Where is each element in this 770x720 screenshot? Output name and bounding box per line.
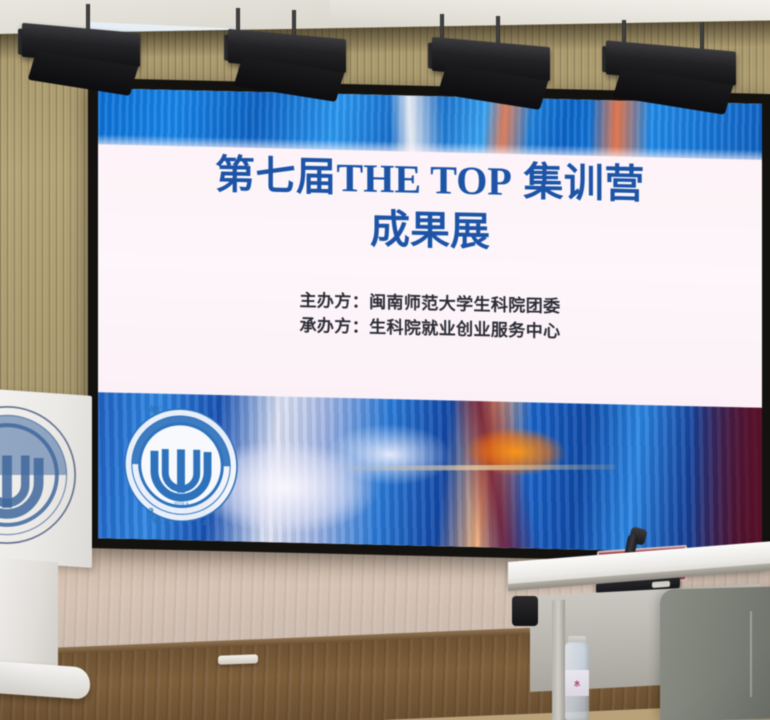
stage-light-4 [606,40,736,111]
podium-logo-icon [0,402,80,548]
light-rod [700,22,704,52]
presenter-table-leg [552,600,565,720]
floor-object [218,654,258,664]
water-bottle-label: 水 [565,670,589,696]
water-bottle-label-text: 水 [565,679,589,688]
slide-title-cn-prefix: 第七届 [215,153,337,200]
led-screen[interactable]: 闽南师范大学 生科院就业创业服务中心 2018.9 第七届THE TOP 集训营… [98,88,762,554]
speaker-podium [0,392,98,720]
logo-year: 2018.9 [173,501,188,507]
university-logo-icon: 闽南师范大学 生科院就业创业服务中心 2018.9 [122,405,240,526]
stage-light-1 [22,23,140,93]
stage-light-3 [432,37,550,107]
under-table-speaker [512,596,538,626]
slide-title-cn-suffix: 集训营 [512,160,645,207]
slide-text-block: 第七届THE TOP 集训营 成果展 主办方：闽南师范大学生科院团委 承办方：生… [98,150,762,349]
led-screen-frame: 闽南师范大学 生科院就业创业服务中心 2018.9 第七届THE TOP 集训营… [88,78,770,564]
slide-title-latin: THE TOP [337,155,512,204]
stage-light-2 [228,29,346,99]
presenter-chair [660,586,770,720]
slide-title-line2: 成果展 [98,199,762,263]
podium-base [0,660,90,700]
conference-hall-scene: 闽南师范大学 生科院就业创业服务中心 2018.9 第七届THE TOP 集训营… [0,0,770,720]
light-rod [86,4,90,30]
